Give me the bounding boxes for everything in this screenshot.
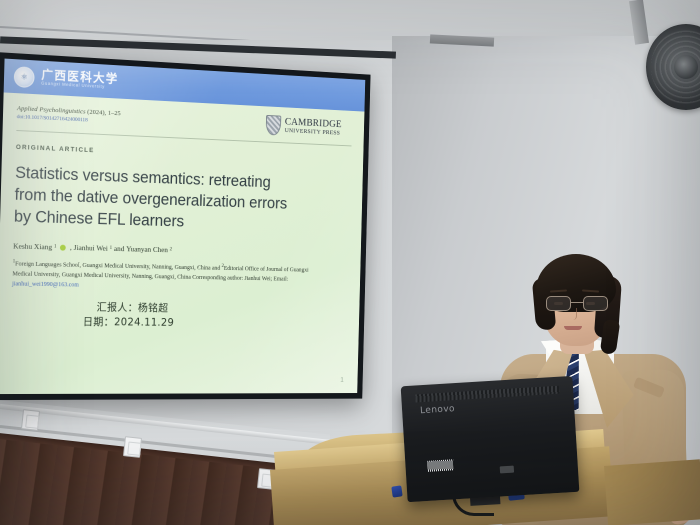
desk-microphone[interactable] xyxy=(391,485,402,497)
author-conjunction: and xyxy=(114,244,125,253)
corresponding-author-email[interactable]: jianhui_wei1990@163.com xyxy=(12,281,79,289)
citation-block: Applied Psycholinguistics (2024), 1–25 d… xyxy=(17,102,121,125)
publisher-name-bottom: UNIVERSITY PRESS xyxy=(285,128,342,137)
author-third-name: Yuanyan Chen xyxy=(126,245,168,255)
orcid-icon[interactable] xyxy=(60,244,66,250)
presentation-slide: ⚛ 广西医科大学 Guangxi Medical University Appl… xyxy=(0,59,365,395)
glasses-bridge xyxy=(571,302,583,303)
mouth xyxy=(564,326,582,330)
slide-page-number: 1 xyxy=(340,377,344,384)
author-second-name: Jianhui Wei xyxy=(74,243,108,253)
author-first-name: Keshu Xiang xyxy=(13,242,52,252)
author-third-sup: 2 xyxy=(170,248,172,253)
monitor-port xyxy=(500,466,514,474)
presenter-info-block: 汇报人：杨铭超 日期：2024.11.29 xyxy=(11,299,348,333)
eyeglasses-icon xyxy=(546,296,608,311)
cambridge-university-press-logo: CAMBRIDGE UNIVERSITY PRESS xyxy=(266,115,352,139)
nose xyxy=(570,308,577,320)
cambridge-wordmark: CAMBRIDGE UNIVERSITY PRESS xyxy=(285,117,342,137)
citation-row: Applied Psycholinguistics (2024), 1–25 d… xyxy=(17,102,353,139)
fan-hub xyxy=(674,55,698,79)
monitor-brand-label: Lenovo xyxy=(420,404,455,416)
wall-outlet-center[interactable] xyxy=(123,436,142,458)
computer-monitor[interactable]: Lenovo xyxy=(401,376,580,502)
wall-outlet-left[interactable] xyxy=(21,409,40,431)
university-seal-icon: ⚛ xyxy=(14,66,35,88)
corresponding-author-prefix: Corresponding author: Jianhui Wei; Email… xyxy=(192,274,288,283)
monitor-vent xyxy=(415,386,559,403)
podium-side-panel xyxy=(604,459,700,525)
author-second-sup: 1 xyxy=(110,246,113,251)
cambridge-crest-icon xyxy=(266,115,282,136)
lens-left xyxy=(546,296,571,311)
author-first-sup: 1 xyxy=(54,245,57,250)
article-title: Statistics versus semantics: retreating … xyxy=(14,163,295,236)
lens-right xyxy=(583,296,608,311)
lecture-room-scene: ⚛ 广西医科大学 Guangxi Medical University Appl… xyxy=(0,0,700,525)
slide-body: Applied Psycholinguistics (2024), 1–25 d… xyxy=(0,92,364,394)
article-type-kicker: ORIGINAL ARTICLE xyxy=(16,144,351,165)
hair-ponytail xyxy=(600,319,621,355)
projection-screen: ⚛ 广西医科大学 Guangxi Medical University Appl… xyxy=(0,52,371,400)
author-list: Keshu Xiang1 , Jianhui Wei1 and Yuanyan … xyxy=(13,242,349,259)
affiliations-block: 1Foreign Languages School, Guangxi Medic… xyxy=(12,259,319,295)
monitor-barcode-label xyxy=(427,459,454,472)
university-name-block: 广西医科大学 Guangxi Medical University xyxy=(41,69,119,90)
presentation-date-line: 日期：2024.11.29 xyxy=(83,315,347,333)
journal-volume: (2024), 1–25 xyxy=(85,109,120,118)
author-separator: , xyxy=(70,243,72,252)
